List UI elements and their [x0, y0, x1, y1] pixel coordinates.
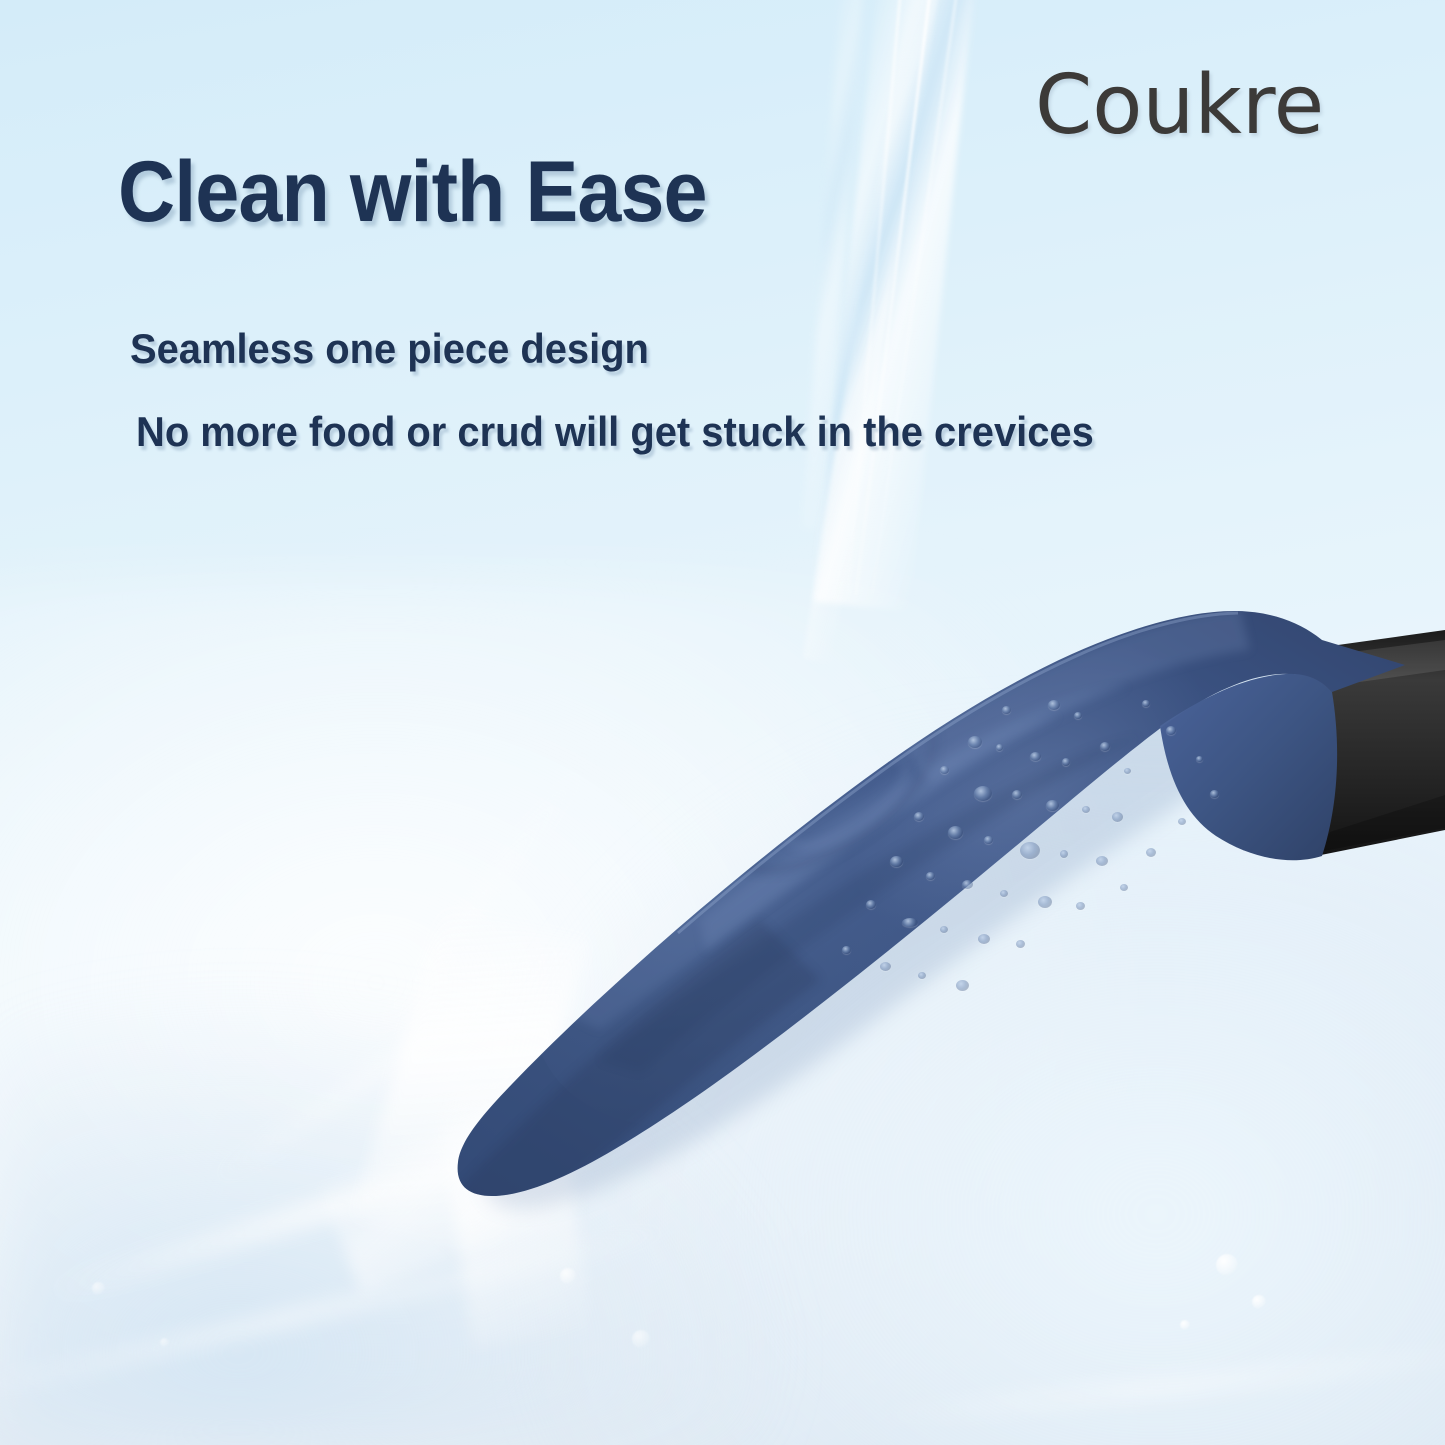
brand-logo-text: Coukre [1035, 58, 1324, 153]
product-image-canvas: Coukre Clean with Ease Seamless one piec… [0, 0, 1445, 1445]
water-bubble [1216, 1254, 1238, 1276]
water-bubble [498, 1180, 510, 1192]
water-bubble [92, 1282, 105, 1295]
water-bubble [1252, 1295, 1266, 1309]
water-bubble [632, 1330, 650, 1348]
subheading-no-crevices: No more food or crud will get stuck in t… [136, 408, 1094, 456]
subheading-seamless-design: Seamless one piece design [130, 325, 649, 373]
headline: Clean with Ease [118, 143, 707, 242]
water-bubble [560, 1268, 576, 1284]
water-bubble [160, 1338, 169, 1347]
water-bubble [1180, 1320, 1190, 1330]
